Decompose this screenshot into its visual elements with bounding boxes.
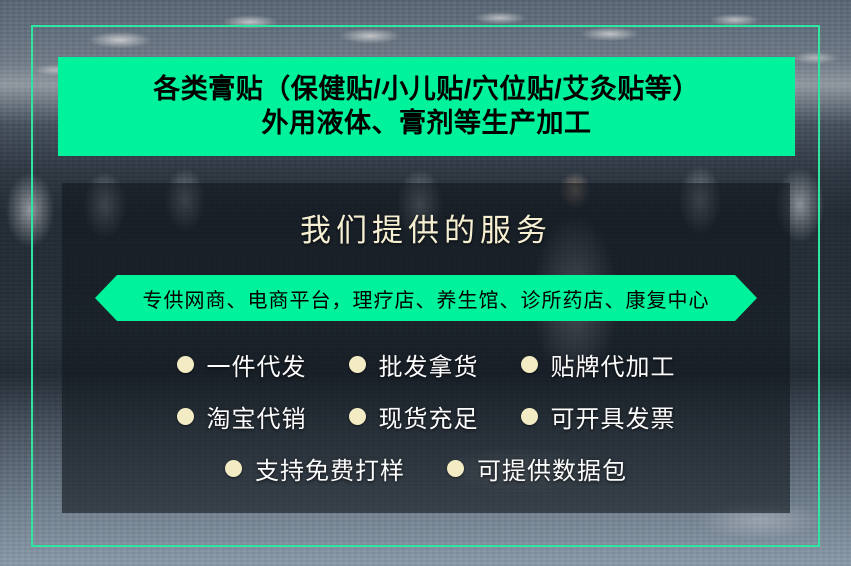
list-item[interactable]: 可开具发票 <box>521 399 676 434</box>
list-item[interactable]: 批发拿货 <box>349 347 479 382</box>
service-panel: 我们提供的服务 专供网商、电商平台，理疗店、养生馆、诊所药店、康复中心 一件代发… <box>62 183 790 513</box>
list-item[interactable]: 淘宝代销 <box>177 399 307 434</box>
dot-icon <box>225 460 242 477</box>
headline-line-1: 各类膏贴（保健贴/小儿贴/穴位贴/艾灸贴等） <box>153 74 700 106</box>
feature-label: 可开具发票 <box>551 399 676 434</box>
target-customers-ribbon: 专供网商、电商平台，理疗店、养生馆、诊所药店、康复中心 <box>95 275 757 321</box>
headline-line-2: 外用液体、膏剂等生产加工 <box>262 108 592 140</box>
list-item[interactable]: 贴牌代加工 <box>521 347 676 382</box>
feature-label: 淘宝代销 <box>207 399 307 434</box>
feature-label: 一件代发 <box>207 347 307 382</box>
feature-label: 可提供数据包 <box>477 451 627 486</box>
feature-label: 贴牌代加工 <box>551 347 676 382</box>
feature-row: 一件代发 批发拿货 贴牌代加工 <box>62 338 790 390</box>
feature-label: 支持免费打样 <box>255 451 405 486</box>
feature-row: 淘宝代销 现货充足 可开具发票 <box>62 390 790 442</box>
list-item[interactable]: 可提供数据包 <box>447 451 627 486</box>
dot-icon <box>521 356 538 373</box>
dot-icon <box>177 408 194 425</box>
feature-label: 批发拿货 <box>379 347 479 382</box>
feature-list: 一件代发 批发拿货 贴牌代加工 淘宝代销 现货充足 <box>62 338 790 494</box>
dot-icon <box>177 356 194 373</box>
dot-icon <box>349 356 366 373</box>
list-item[interactable]: 现货充足 <box>349 399 479 434</box>
promo-banner-image: 各类膏贴（保健贴/小儿贴/穴位贴/艾灸贴等） 外用液体、膏剂等生产加工 我们提供… <box>0 0 851 566</box>
headline-banner: 各类膏贴（保健贴/小儿贴/穴位贴/艾灸贴等） 外用液体、膏剂等生产加工 <box>58 57 795 156</box>
list-item[interactable]: 一件代发 <box>177 347 307 382</box>
list-item[interactable]: 支持免费打样 <box>225 451 405 486</box>
service-section-title: 我们提供的服务 <box>62 205 790 250</box>
dot-icon <box>447 460 464 477</box>
feature-row: 支持免费打样 可提供数据包 <box>62 442 790 494</box>
dot-icon <box>521 408 538 425</box>
feature-label: 现货充足 <box>379 399 479 434</box>
target-customers-text: 专供网商、电商平台，理疗店、养生馆、诊所药店、康复中心 <box>143 284 710 313</box>
dot-icon <box>349 408 366 425</box>
